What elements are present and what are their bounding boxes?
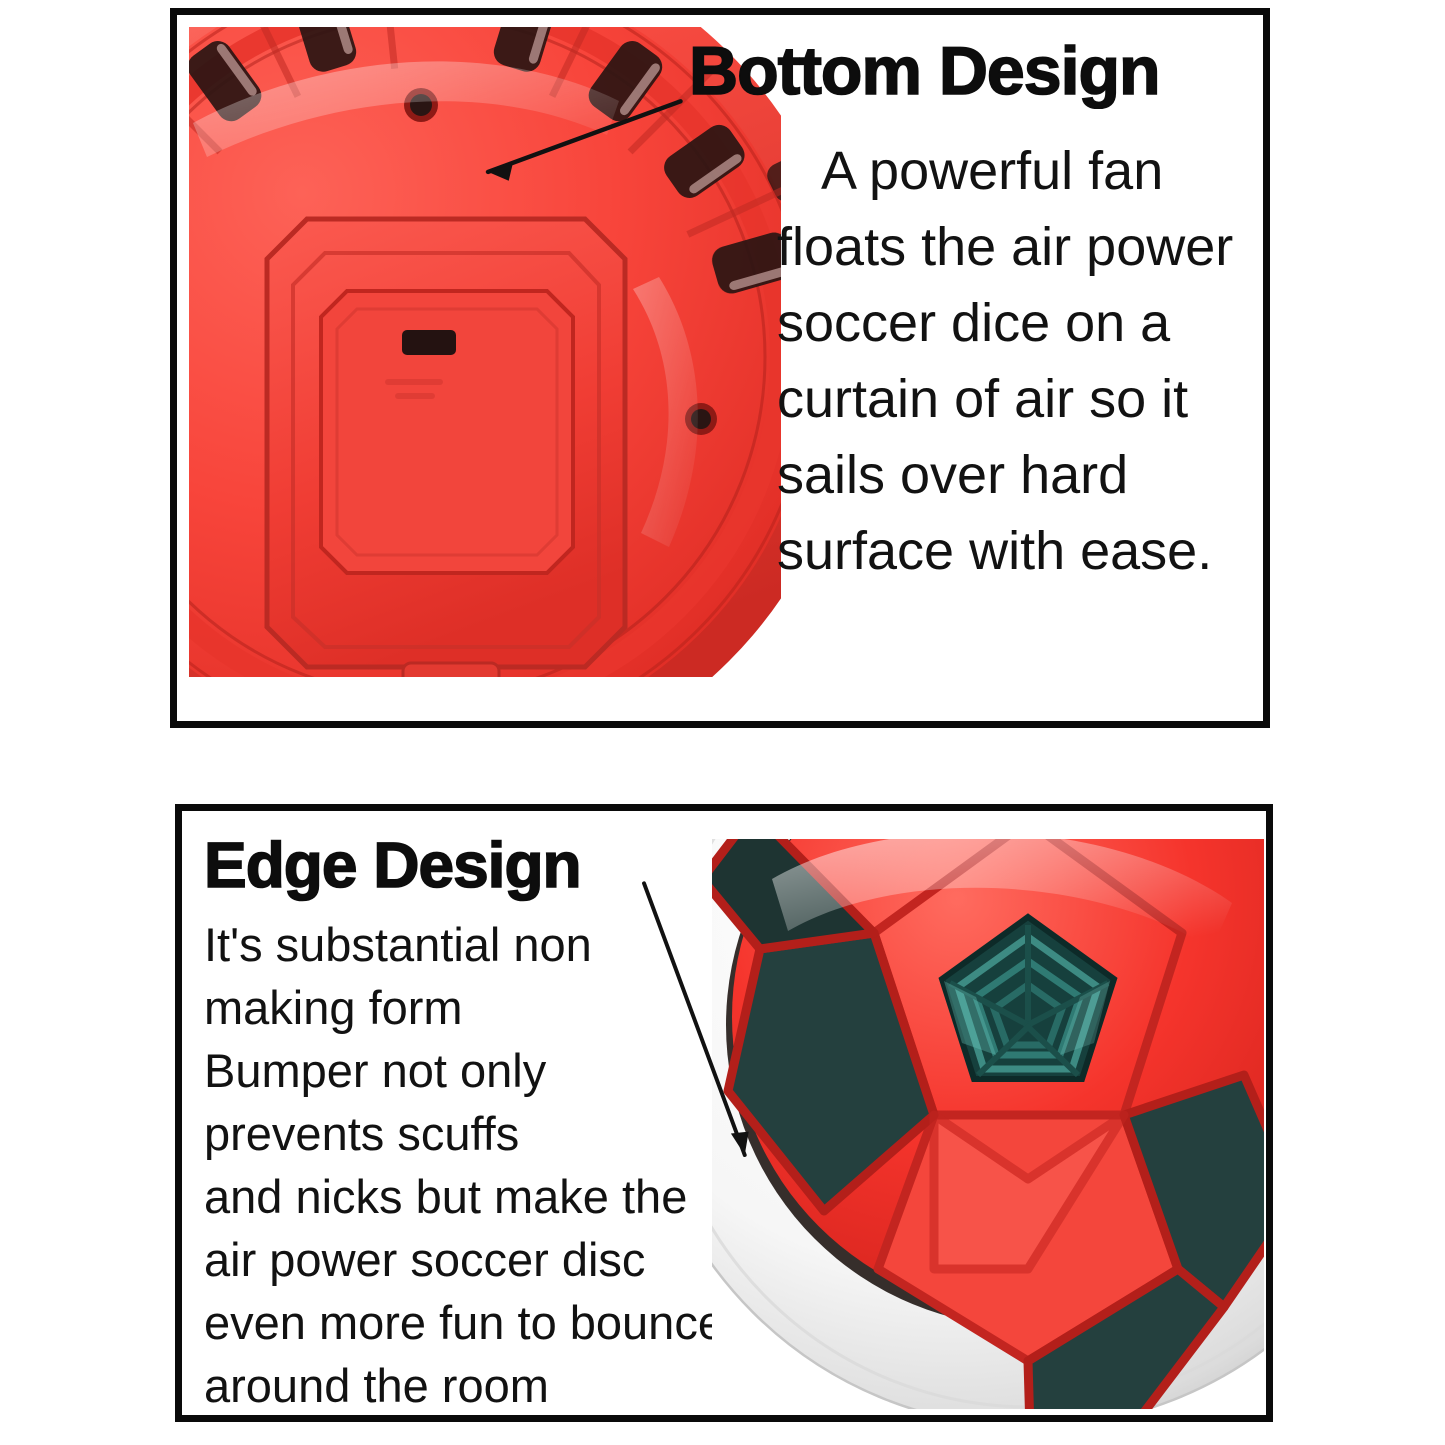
soccer-disc-illustration xyxy=(712,839,1264,1409)
panel-edge-design-body: It's substantial non making form Bumper … xyxy=(204,913,744,1417)
panel-edge-design: Edge Design It's substantial non making … xyxy=(175,804,1273,1422)
product-photo-disc-underside xyxy=(189,27,781,677)
panel-edge-design-inner: Edge Design It's substantial non making … xyxy=(182,811,1266,1415)
panel-edge-design-heading: Edge Design xyxy=(204,829,581,901)
disc-underside-illustration xyxy=(189,27,781,677)
product-photo-disc-top xyxy=(712,839,1264,1409)
panel-bottom-design-inner: Bottom Design A powerful fan floats the … xyxy=(177,15,1263,721)
infographic-page: Bottom Design A powerful fan floats the … xyxy=(0,0,1445,1445)
panel-bottom-design: Bottom Design A powerful fan floats the … xyxy=(170,8,1270,728)
panel-bottom-design-heading: Bottom Design xyxy=(689,33,1160,109)
panel-bottom-design-body: A powerful fan floats the air power socc… xyxy=(777,133,1255,589)
